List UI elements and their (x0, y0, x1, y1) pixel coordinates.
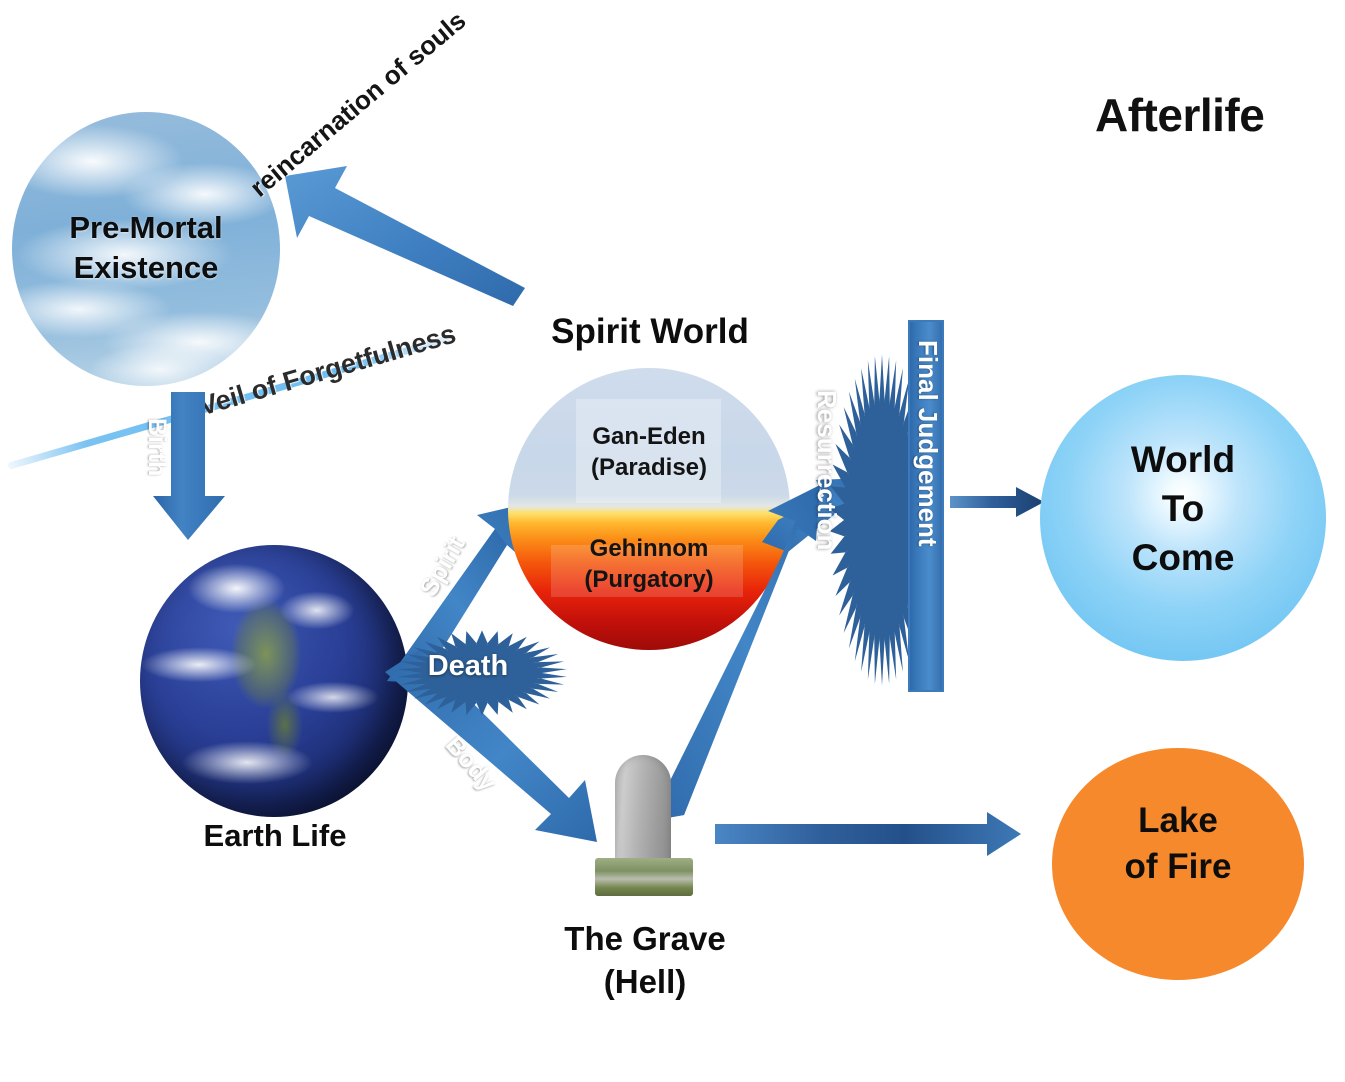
world-to-come-line-1: World (1052, 435, 1314, 484)
arrow-reincarnation (275, 160, 525, 310)
node-world-to-come-label: World To Come (1052, 435, 1314, 583)
node-spirit-world-title: Spirit World (490, 312, 810, 352)
tombstone-base (595, 858, 693, 896)
node-final-judgement-label: Final Judgement (912, 340, 943, 547)
world-to-come-line-2: To (1052, 484, 1314, 533)
grave-line-2: (Hell) (530, 961, 760, 1004)
gan-eden-line-1: Gan-Eden (534, 421, 764, 452)
node-resurrection-label: Resurrection (811, 390, 842, 650)
pre-mortal-line-2: Existence (14, 248, 278, 288)
node-the-grave-label: The Grave (Hell) (530, 918, 760, 1004)
node-earth-life-label: Earth Life (130, 818, 420, 854)
world-to-come-line-3: Come (1052, 533, 1314, 582)
grave-line-1: The Grave (530, 918, 760, 961)
lake-of-fire-line-1: Lake (1052, 798, 1304, 844)
node-lake-of-fire-label: Lake of Fire (1052, 798, 1304, 890)
gan-eden-line-2: (Paradise) (534, 452, 764, 483)
afterlife-diagram: Afterlife Pre-Mortal Existence reincarna… (0, 0, 1345, 1082)
node-pre-mortal-existence-label: Pre-Mortal Existence (14, 208, 278, 287)
arrow-judgement-to-world-to-come (950, 485, 1046, 521)
node-the-grave (593, 755, 697, 891)
edge-label-birth: Birth (142, 418, 171, 476)
pre-mortal-line-1: Pre-Mortal (14, 208, 278, 248)
arrow-birth (155, 392, 265, 542)
lake-of-fire-line-2: of Fire (1052, 844, 1304, 890)
tombstone-icon (615, 755, 671, 867)
edge-label-death: Death (402, 650, 534, 683)
arrow-grave-to-lake-of-fire (715, 810, 1025, 858)
page-title: Afterlife (1095, 88, 1335, 142)
node-earth-life (140, 545, 408, 817)
node-gan-eden-label: Gan-Eden (Paradise) (534, 421, 764, 483)
